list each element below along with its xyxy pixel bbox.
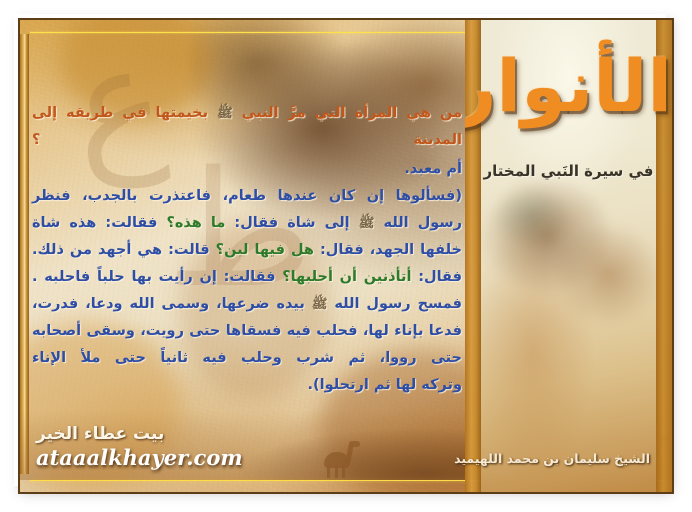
publication-title: الأنوار bbox=[465, 48, 672, 126]
author-credit: الشيخ سليمان بن محمد اللهيميد bbox=[454, 451, 650, 466]
brand-name-arabic: بيت عطاء الخير bbox=[36, 424, 243, 444]
title-panel: الأنوار في سيرة النَبي المختار bbox=[465, 20, 672, 492]
poster-inner-frame: ع ط bbox=[18, 18, 674, 494]
highlighted-phrase: هل فيها لبن؟ bbox=[216, 242, 314, 258]
narration-text: (فسألوها إن كان عندها طعام، فاعتذرت بالج… bbox=[32, 183, 462, 399]
camel-silhouette-icon bbox=[320, 444, 360, 478]
parchment-background: ع ط bbox=[20, 20, 672, 492]
highlighted-phrase: ما هذه؟ bbox=[166, 215, 225, 231]
salawat-icon: ﷺ bbox=[359, 216, 375, 231]
site-brand[interactable]: بيت عطاء الخير ataaalkhayer.com bbox=[36, 424, 243, 470]
answer-short-text: أم معبد. bbox=[32, 156, 462, 183]
narration-line-last: وتركه لها ثم ارتحلوا). bbox=[32, 372, 462, 399]
question-text: من هي المرأة التي مرَّ النبي ﷺ بخيمتها ف… bbox=[32, 100, 462, 154]
left-gilt-strip bbox=[20, 34, 29, 474]
poster-canvas: ع ط bbox=[0, 0, 692, 512]
content-column: من هي المرأة التي مرَّ النبي ﷺ بخيمتها ف… bbox=[32, 100, 462, 399]
highlighted-phrase: أتأذنين أن أحلبها؟ bbox=[282, 269, 411, 285]
salawat-icon: ﷺ bbox=[312, 297, 328, 312]
narration-line: فدعا بإناء لها، فحلب فيه فسقاها حتى رويت… bbox=[87, 323, 462, 339]
narration-line: فمسح رسول الله ﷺ بيده ضرعها، وسمى الله و… bbox=[32, 296, 462, 312]
salawat-icon: ﷺ bbox=[217, 106, 233, 121]
brand-website-url[interactable]: ataaalkhayer.com bbox=[36, 445, 243, 470]
narration-line: أتأذنين أن أحلبها؟ فقالت: إن رأيت بها حل… bbox=[32, 269, 411, 285]
publication-subtitle: في سيرة النَبي المختار bbox=[465, 162, 672, 180]
narration-line: (فسألوها إن كان عندها طعام، فاعتذرت بالج… bbox=[32, 188, 462, 204]
